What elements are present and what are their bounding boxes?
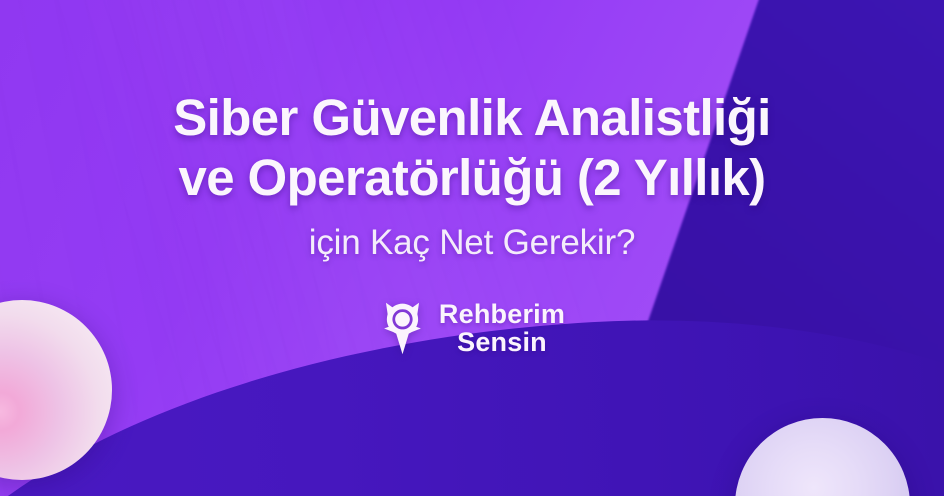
page-title: Siber Güvenlik Analistliği ve Operatörlü… [173, 88, 771, 208]
map-pin-compass-icon [379, 300, 426, 357]
brand-logo-line-1: Rehberim [439, 301, 565, 329]
page-title-line-2: ve Operatörlüğü (2 Yıllık) [173, 148, 771, 208]
brand-logo[interactable]: Rehberim Sensin [379, 300, 565, 357]
page-title-line-1: Siber Güvenlik Analistliği [173, 88, 771, 148]
page-subtitle: için Kaç Net Gerekir? [309, 222, 635, 264]
banner-content: Siber Güvenlik Analistliği ve Operatörlü… [0, 0, 944, 496]
promo-banner: Siber Güvenlik Analistliği ve Operatörlü… [0, 0, 944, 496]
brand-logo-line-2: Sensin [457, 329, 547, 357]
brand-logo-text: Rehberim Sensin [439, 301, 565, 356]
